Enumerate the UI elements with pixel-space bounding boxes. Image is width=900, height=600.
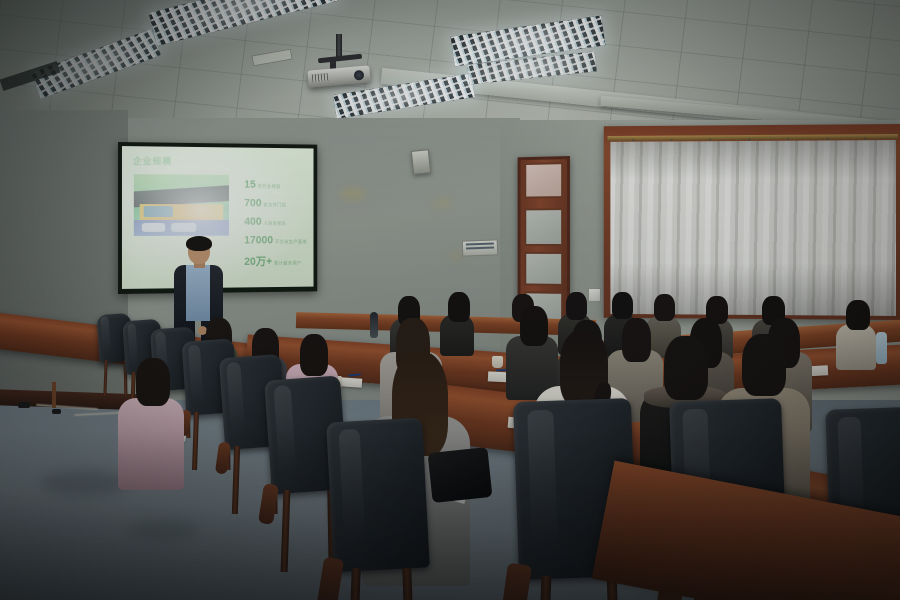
floor-mark-1 (40, 470, 130, 496)
presenter-hair (186, 236, 212, 251)
presenter-shirt (186, 265, 210, 321)
wall-pipe (52, 382, 56, 408)
paper-cup-2 (492, 356, 503, 368)
light-switch[interactable] (588, 288, 601, 302)
wall-speaker (411, 149, 431, 175)
water-bottle (876, 332, 887, 364)
wall-stain-1 (340, 188, 366, 200)
door-transom-pane (524, 162, 563, 198)
floor-mark-2 (128, 520, 198, 540)
floor-cable-clip (52, 409, 61, 414)
window-with-curtains (604, 124, 900, 320)
conference-room-photo: 企业规模 15年行业经验 700家合作门店 400人研发团队 17000平方米生… (0, 0, 900, 600)
door-pane-1 (524, 208, 563, 246)
door-pane-2 (524, 252, 563, 286)
thermos-1 (370, 312, 378, 338)
notebook-1 (340, 377, 363, 388)
floor-cable-connector (18, 402, 30, 408)
handbag (428, 447, 493, 503)
wall-stain-2 (432, 198, 452, 208)
wall-air-conditioner (462, 239, 499, 256)
curtain[interactable] (610, 140, 896, 316)
